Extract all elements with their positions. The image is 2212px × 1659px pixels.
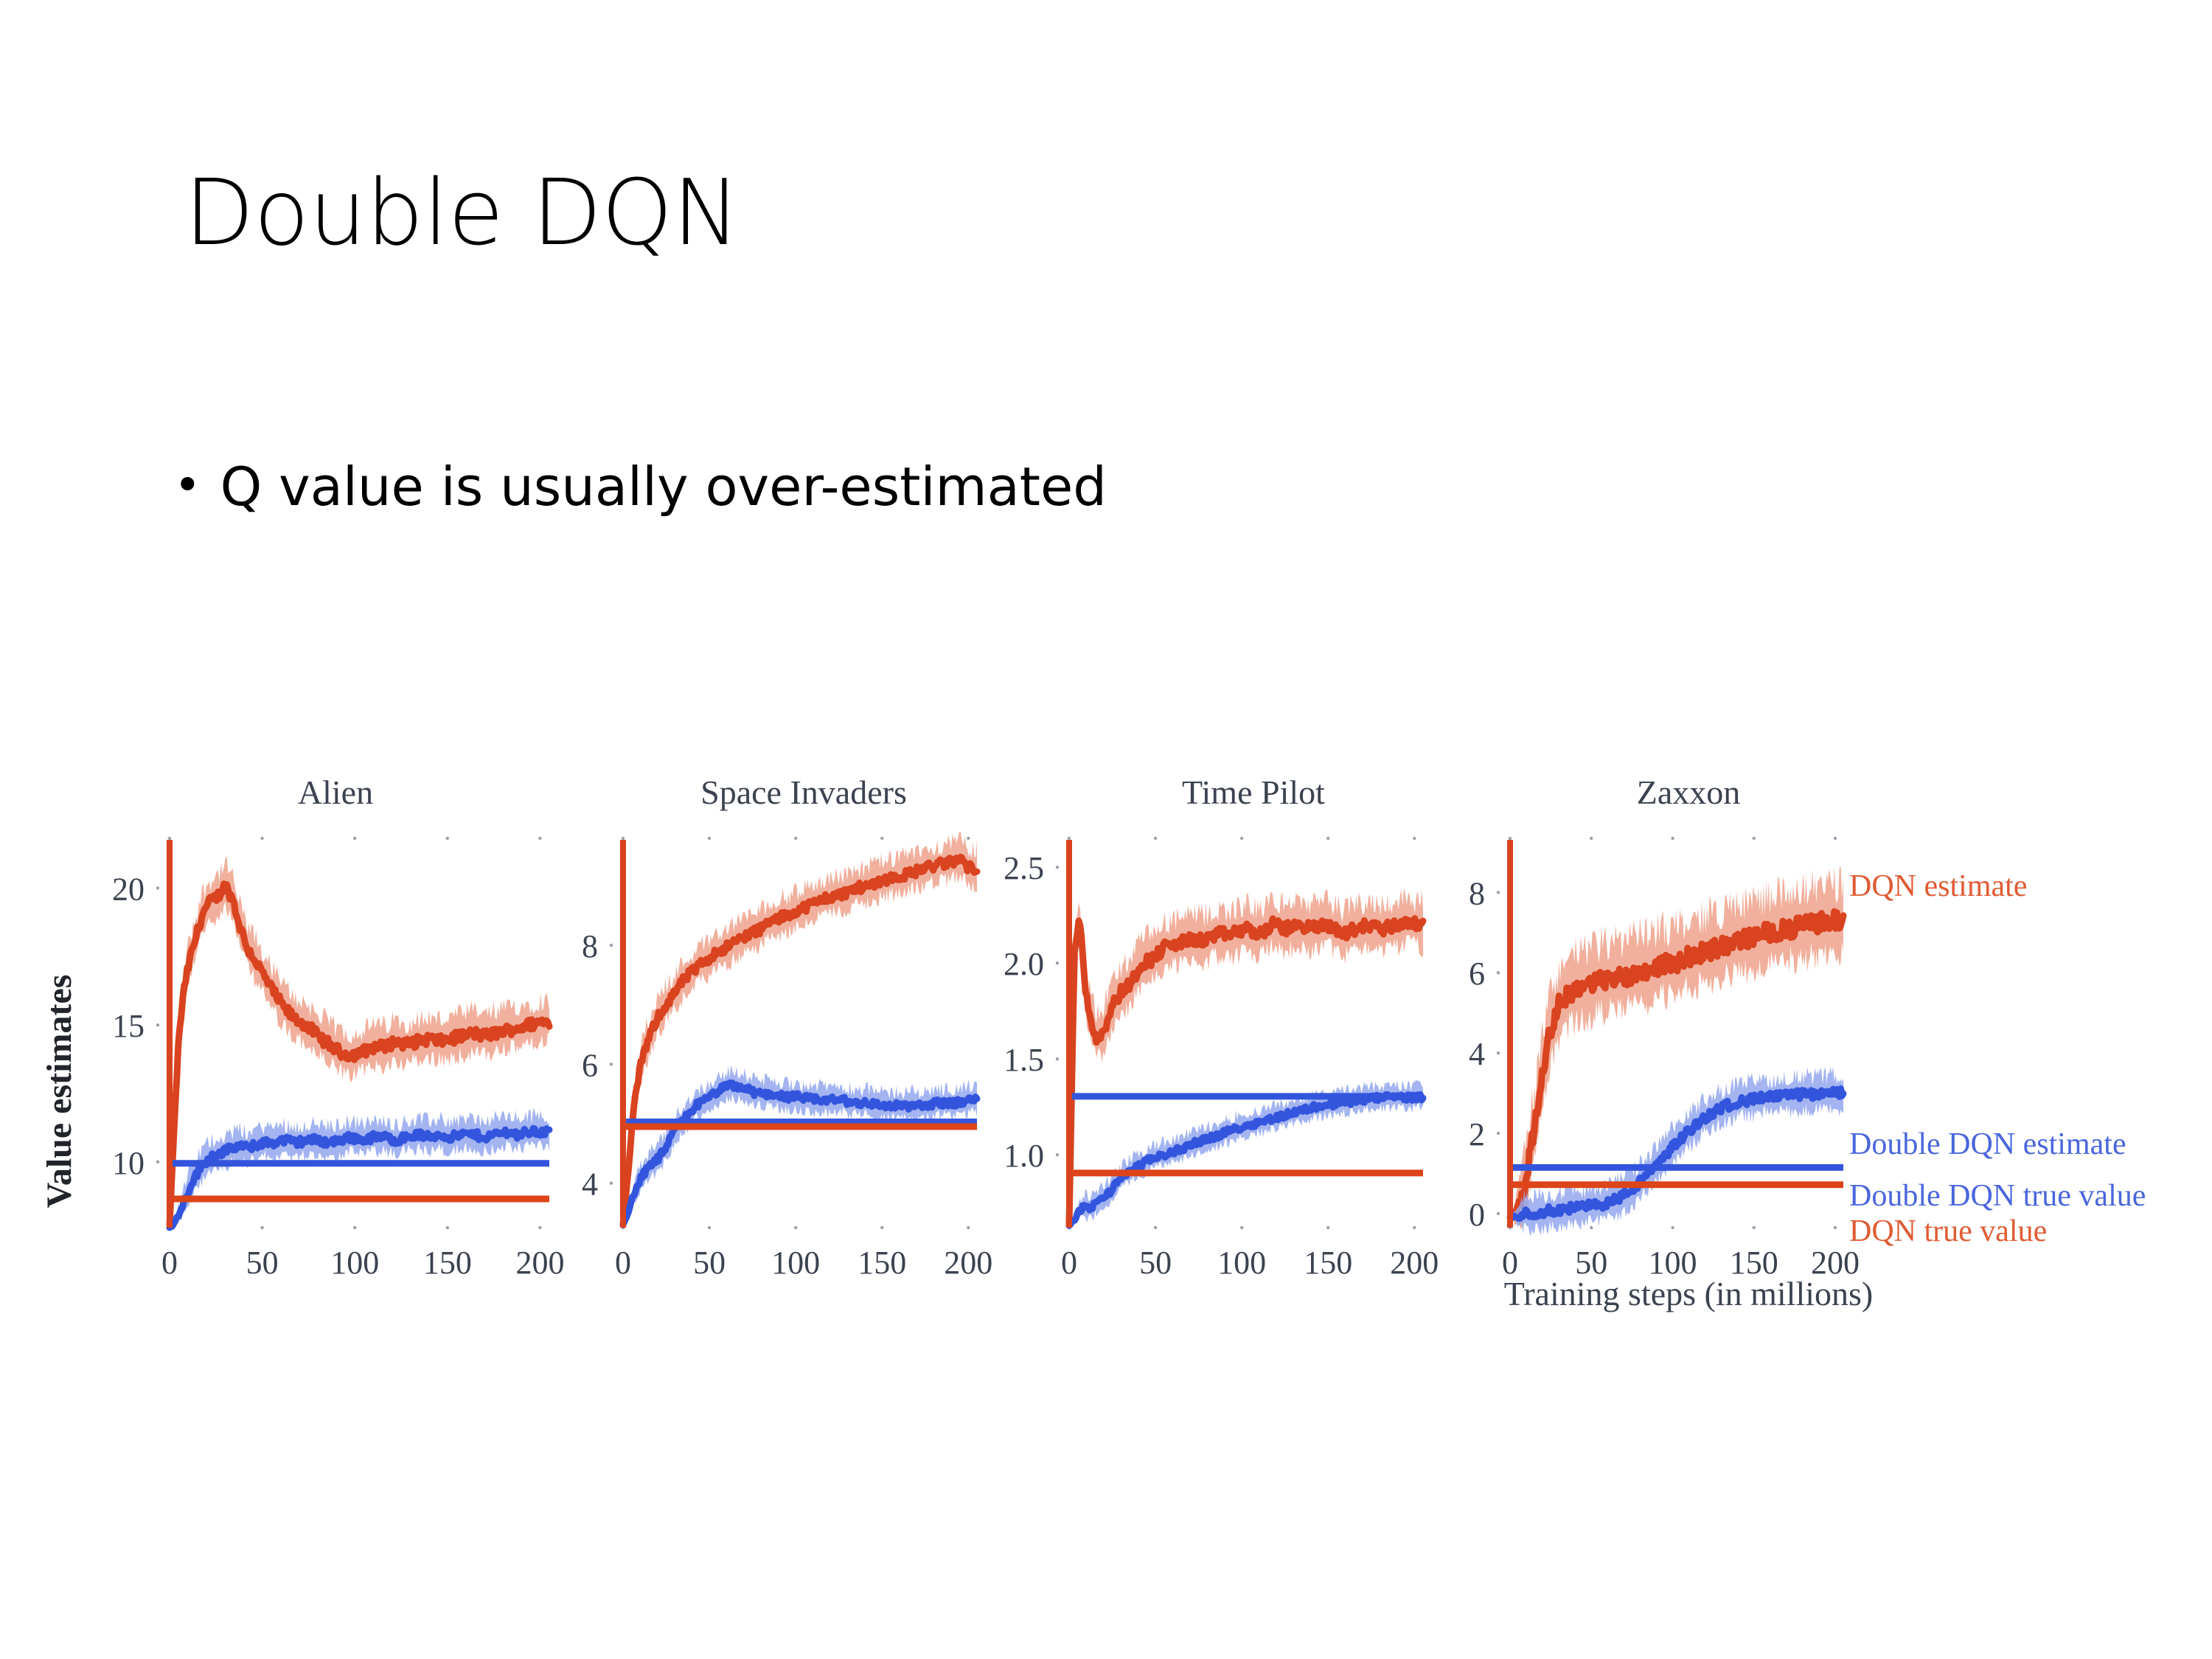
chart-panel-alien: Alien101520050100150200: [112, 773, 564, 1281]
tick-dot: [156, 1161, 159, 1164]
tick-dot: [880, 837, 883, 840]
series-line-0: [1510, 911, 1843, 1217]
y-tick-label: 4: [582, 1166, 598, 1203]
tick-dot: [156, 886, 159, 889]
y-tick-label: 1.0: [1004, 1138, 1044, 1174]
tick-dot: [1240, 837, 1243, 840]
tick-dot: [622, 837, 625, 840]
legend-label-2: Double DQN true value: [1849, 1179, 2146, 1213]
tick-dot: [1056, 961, 1059, 964]
y-tick-label: 8: [1469, 875, 1485, 911]
tick-dot: [610, 1062, 613, 1065]
tick-dot: [967, 1226, 970, 1229]
chart-panel-zaxxon: Zaxxon02468050100150200: [1469, 773, 1860, 1281]
bullet-dot-icon: •: [174, 462, 201, 508]
uncertainty-band-1: [170, 1108, 549, 1228]
tick-dot: [260, 837, 263, 840]
tick-dot: [1326, 837, 1329, 840]
tick-dot: [1509, 837, 1512, 840]
tick-dot: [168, 837, 171, 840]
tick-dot: [1068, 837, 1071, 840]
tick-dot: [1834, 1226, 1837, 1229]
tick-dot: [794, 837, 797, 840]
tick-dot: [446, 837, 449, 840]
y-axis-label: Value estimates: [40, 975, 79, 1208]
tick-dot: [880, 1226, 883, 1229]
panel-title-3: Zaxxon: [1637, 773, 1741, 811]
tick-dot: [1056, 866, 1059, 869]
tick-dot: [1497, 971, 1500, 974]
tick-dot: [708, 837, 711, 840]
x-tick-label: 200: [1390, 1245, 1439, 1281]
tick-dot: [1671, 837, 1674, 840]
tick-dot: [1056, 1153, 1059, 1156]
tick-dot: [1326, 1226, 1329, 1229]
y-tick-label: 4: [1469, 1036, 1485, 1072]
x-tick-label: 100: [771, 1245, 820, 1281]
tick-dot: [1753, 1226, 1756, 1229]
tick-dot: [260, 1226, 263, 1229]
tick-dot: [353, 837, 356, 840]
series-line-1: [1069, 1094, 1423, 1225]
tick-dot: [1413, 1226, 1416, 1229]
legend-label-0: DQN estimate: [1849, 869, 2027, 903]
tick-dot: [708, 1226, 711, 1229]
x-tick-label: 0: [161, 1245, 178, 1281]
tick-dot: [1590, 837, 1593, 840]
tick-dot: [538, 1226, 541, 1229]
y-tick-label: 0: [1469, 1197, 1485, 1233]
chart-panel-time-pilot: Time Pilot1.01.52.02.5050100150200: [1004, 773, 1439, 1281]
x-axis-label: Training steps (in millions): [1504, 1275, 1874, 1312]
x-tick-label: 200: [515, 1245, 564, 1281]
tick-dot: [446, 1226, 449, 1229]
panel-title-2: Time Pilot: [1182, 773, 1325, 811]
tick-dot: [353, 1226, 356, 1229]
x-tick-label: 0: [1061, 1245, 1077, 1281]
series-line-0: [623, 857, 977, 1225]
y-tick-label: 8: [582, 928, 598, 964]
y-tick-label: 6: [1469, 956, 1485, 992]
figure-svg: Alien101520050100150200Space Invaders468…: [0, 745, 2212, 1364]
x-tick-label: 100: [1217, 1245, 1266, 1281]
y-tick-label: 15: [112, 1008, 145, 1044]
tick-dot: [1240, 1226, 1243, 1229]
tick-dot: [1671, 1226, 1674, 1229]
y-tick-label: 20: [112, 871, 145, 907]
uncertainty-band-0: [623, 832, 977, 1225]
x-tick-label: 0: [615, 1245, 631, 1281]
tick-dot: [967, 837, 970, 840]
tick-dot: [1154, 837, 1157, 840]
tick-dot: [1590, 1226, 1593, 1229]
x-tick-label: 50: [246, 1245, 279, 1281]
uncertainty-band-1: [623, 1065, 977, 1225]
tick-dot: [1753, 837, 1756, 840]
tick-dot: [794, 1226, 797, 1229]
tick-dot: [610, 1181, 613, 1184]
y-tick-label: 6: [582, 1047, 598, 1083]
tick-dot: [1497, 1132, 1500, 1135]
panel-title-0: Alien: [298, 773, 373, 811]
tick-dot: [1413, 837, 1416, 840]
x-tick-label: 150: [1304, 1245, 1352, 1281]
x-tick-label: 50: [693, 1245, 726, 1281]
x-tick-label: 150: [858, 1245, 906, 1281]
y-tick-label: 2.5: [1004, 850, 1044, 886]
y-tick-label: 2.0: [1004, 946, 1044, 982]
legend-label-1: Double DQN estimate: [1849, 1127, 2126, 1161]
x-tick-label: 50: [1139, 1245, 1172, 1281]
tick-dot: [1497, 1051, 1500, 1054]
y-tick-label: 1.5: [1004, 1042, 1044, 1078]
y-tick-label: 2: [1469, 1116, 1485, 1152]
page-title: Double DQN: [184, 168, 740, 259]
tick-dot: [1154, 1226, 1157, 1229]
bullet-list-item: • Q value is usually over-estimated: [174, 460, 1107, 513]
tick-dot: [1056, 1057, 1059, 1060]
y-tick-label: 10: [112, 1145, 145, 1181]
tick-dot: [1834, 837, 1837, 840]
tick-dot: [156, 1023, 159, 1026]
x-tick-label: 100: [330, 1245, 379, 1281]
bullet-item-label: Q value is usually over-estimated: [220, 460, 1107, 513]
value-estimates-figure: Alien101520050100150200Space Invaders468…: [0, 745, 2212, 1364]
panel-title-1: Space Invaders: [700, 773, 907, 811]
tick-dot: [1497, 1212, 1500, 1215]
chart-panel-space-invaders: Space Invaders468050100150200: [582, 773, 992, 1281]
x-tick-label: 200: [944, 1245, 992, 1281]
legend-label-3: DQN true value: [1849, 1214, 2047, 1248]
tick-dot: [1497, 891, 1500, 894]
x-tick-label: 150: [423, 1245, 472, 1281]
tick-dot: [538, 837, 541, 840]
tick-dot: [610, 944, 613, 947]
